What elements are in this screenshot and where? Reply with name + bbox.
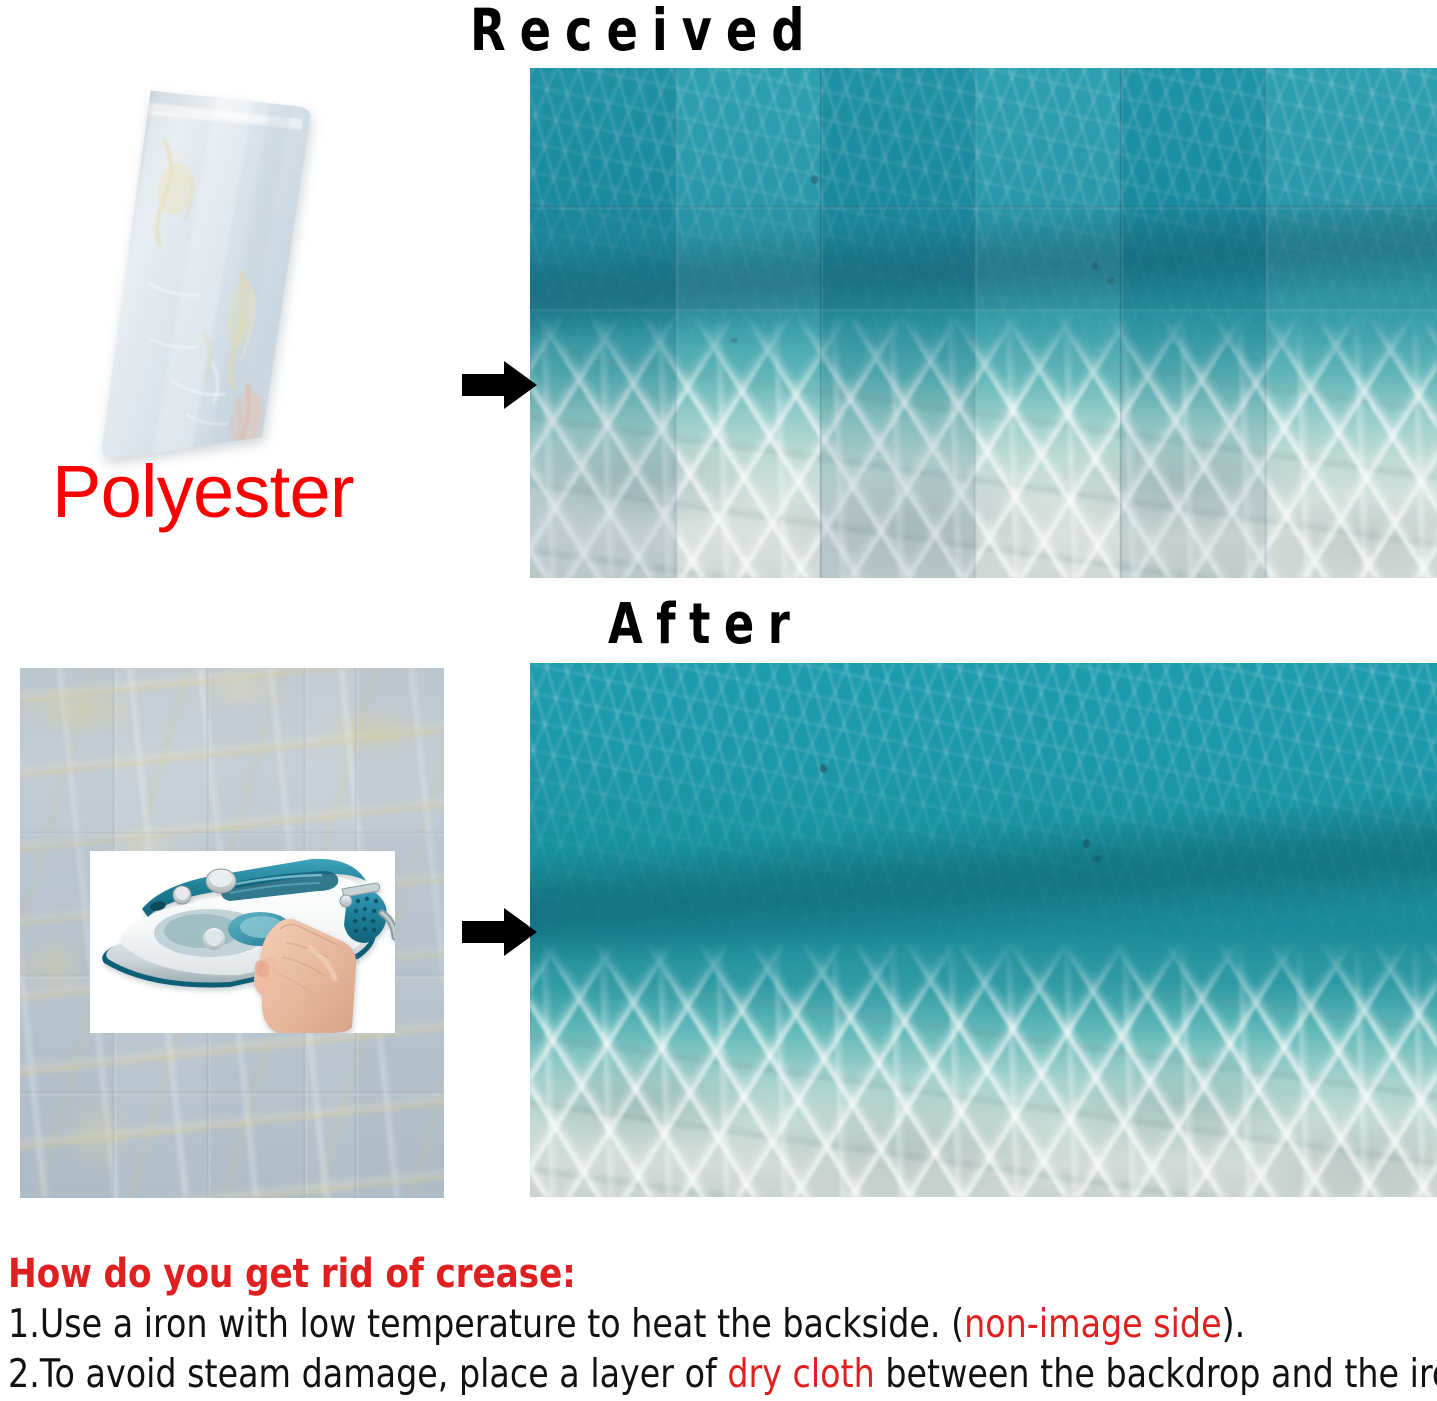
received-backdrop-photo bbox=[530, 68, 1437, 578]
care-line-1-highlight: non-image side bbox=[964, 1302, 1221, 1347]
care-instruction-line-1: 1.Use a iron with low temperature to hea… bbox=[8, 1302, 1230, 1348]
care-line-2-text-part1: To avoid steam damage, place a layer of bbox=[40, 1352, 728, 1397]
after-backdrop-photo bbox=[530, 663, 1437, 1197]
iron-and-hand-illustration bbox=[90, 851, 395, 1033]
after-heading: After bbox=[608, 592, 803, 657]
care-instruction-line-2: 2.To avoid steam damage, place a layer o… bbox=[8, 1352, 1230, 1398]
care-line-1-number: 1. bbox=[8, 1302, 40, 1347]
right-arrow-icon bbox=[462, 905, 538, 964]
care-line-1-text-part2: ). bbox=[1222, 1302, 1246, 1347]
care-instructions-title: How do you get rid of crease: bbox=[8, 1252, 1237, 1297]
care-line-2-text-part2: between the backdrop and the iron. bbox=[875, 1352, 1437, 1397]
sand-caustics-layer bbox=[530, 941, 1437, 1197]
care-line-2-highlight: dry cloth bbox=[727, 1352, 874, 1397]
crease-overlay bbox=[530, 68, 1437, 578]
right-arrow-icon bbox=[462, 358, 538, 417]
rolled-fabric-illustration bbox=[18, 82, 418, 482]
care-instructions: How do you get rid of crease: 1.Use a ir… bbox=[8, 1252, 1437, 1398]
care-line-1-text-part1: Use a iron with low temperature to heat … bbox=[40, 1302, 964, 1347]
received-heading: Received bbox=[470, 0, 818, 64]
iron-demo-photo bbox=[90, 851, 395, 1033]
care-line-2-number: 2. bbox=[8, 1352, 40, 1397]
rolled-fabric-image bbox=[18, 82, 418, 482]
polyester-label: Polyester bbox=[52, 455, 354, 529]
